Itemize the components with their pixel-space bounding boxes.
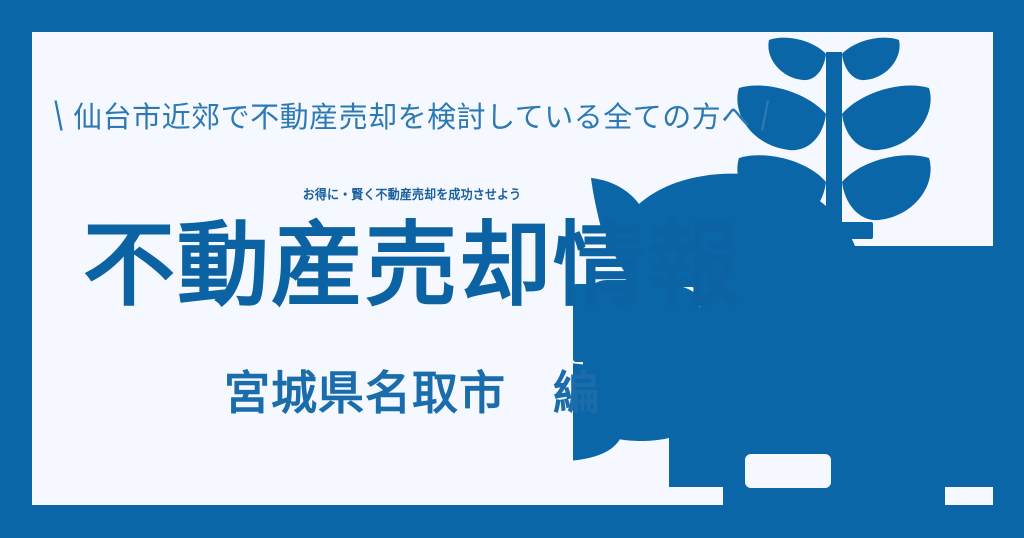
plant-leaf-mid-right — [842, 86, 931, 151]
banner-frame: \仙台市近郊で不動産売却を検討している全ての方へ/ お得に・賢く不動産売却を成功… — [0, 0, 1024, 538]
slash-left-decoration: \ — [44, 95, 73, 141]
subtitle: お得に・賢く不動産売却を成功させよう — [62, 184, 761, 203]
slash-right-decoration: / — [751, 95, 780, 141]
plant-leaf-bottom-right — [842, 155, 931, 220]
region-title: 宮城県名取市 編 — [32, 357, 792, 423]
text-block: \仙台市近郊で不動産売却を検討している全ての方へ/ お得に・賢く不動産売却を成功… — [32, 32, 792, 505]
headline-text: 仙台市近郊で不動産売却を検討している全ての方へ — [73, 102, 751, 134]
plant-leaf-top-right — [842, 38, 900, 80]
headline: \仙台市近郊で不動産売却を検討している全ての方へ/ — [32, 94, 792, 136]
main-title: 不動産売却情報 — [32, 217, 792, 316]
banner-card: \仙台市近郊で不動産売却を検討している全ての方へ/ お得に・賢く不動産売却を成功… — [32, 32, 993, 505]
